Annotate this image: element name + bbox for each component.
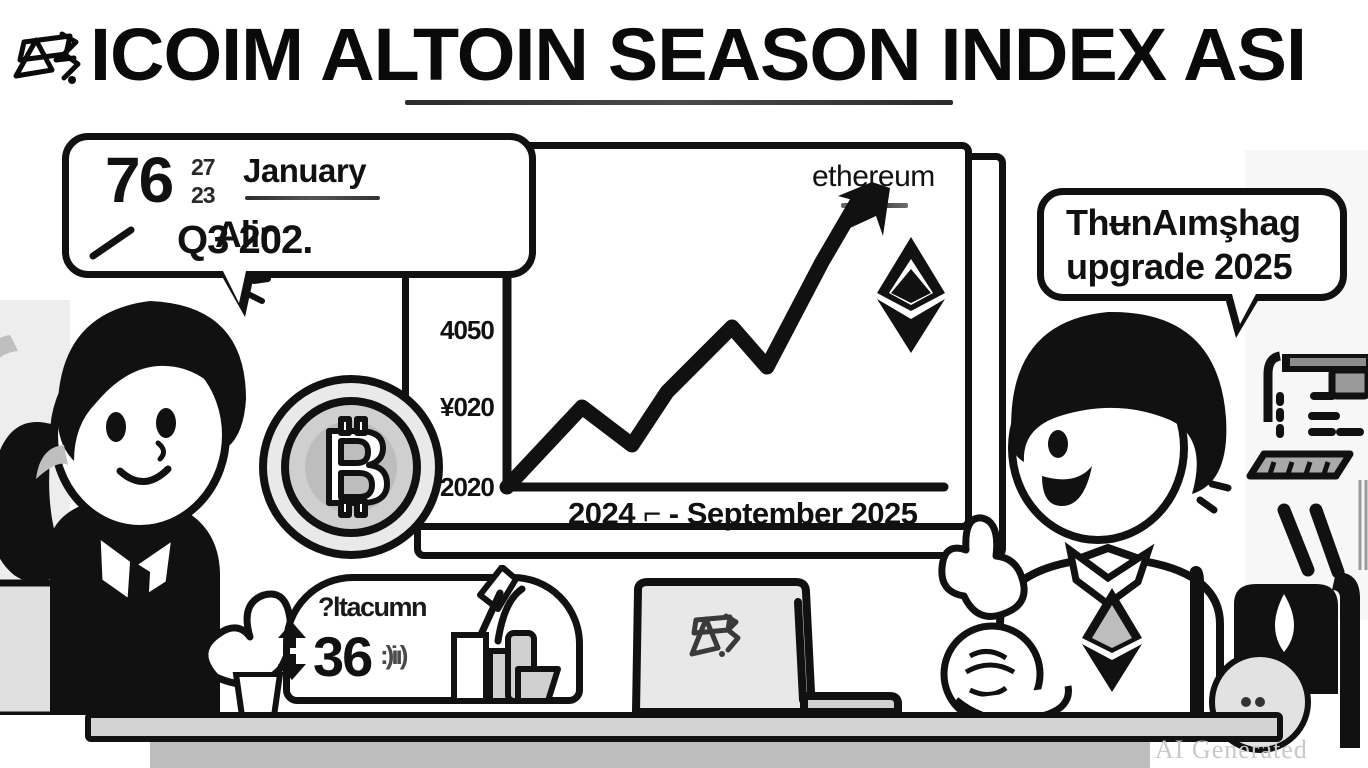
- right-speech-bubble: ThʉnAımşhag upgrade 2025: [1037, 188, 1347, 301]
- mid-bubble-heading: ?ltacumn: [318, 592, 426, 623]
- pen-cup-and-markers: [440, 565, 620, 720]
- right-bubble-line-2: upgrade 2025: [1066, 247, 1292, 287]
- slash-mark-icon: [89, 226, 139, 262]
- alin-label: Alin: [215, 214, 281, 256]
- left-bubble-big-number: 76: [105, 150, 172, 210]
- left-bubble-small-line-1: 27: [191, 156, 215, 178]
- x-axis-label: 2024 ⌐ - September 2025: [568, 496, 918, 532]
- bitcoin-coin-icon: [255, 375, 455, 565]
- laptop-with-brand-logo: [600, 572, 930, 722]
- january-label: January: [243, 152, 366, 190]
- page-title: ICOIM ALTOIN SEASON INDEX ASI: [90, 18, 1306, 92]
- january-underline: [245, 196, 380, 200]
- right-bubble-line-1: ThʉnAımşhag: [1066, 203, 1301, 243]
- mid-bubble-value: 36: [313, 624, 371, 689]
- chart-line-series-asi: [507, 202, 857, 487]
- desk-underside: [150, 742, 1150, 768]
- brand-logo-icon: [6, 20, 90, 90]
- desk-surface: [85, 712, 1283, 742]
- illustration-canvas: ICOIM ALTOIN SEASON INDEX ASI ASI ethere…: [0, 0, 1368, 768]
- page-title-row: ICOIM ALTOIN SEASON INDEX ASI: [0, 10, 1368, 100]
- watermark-label: AI Generated: [1155, 735, 1308, 765]
- title-underline: [405, 100, 953, 105]
- left-bubble-small-line-2: 23: [191, 184, 215, 206]
- mid-bubble-suffix: :)̇ıı): [380, 640, 405, 671]
